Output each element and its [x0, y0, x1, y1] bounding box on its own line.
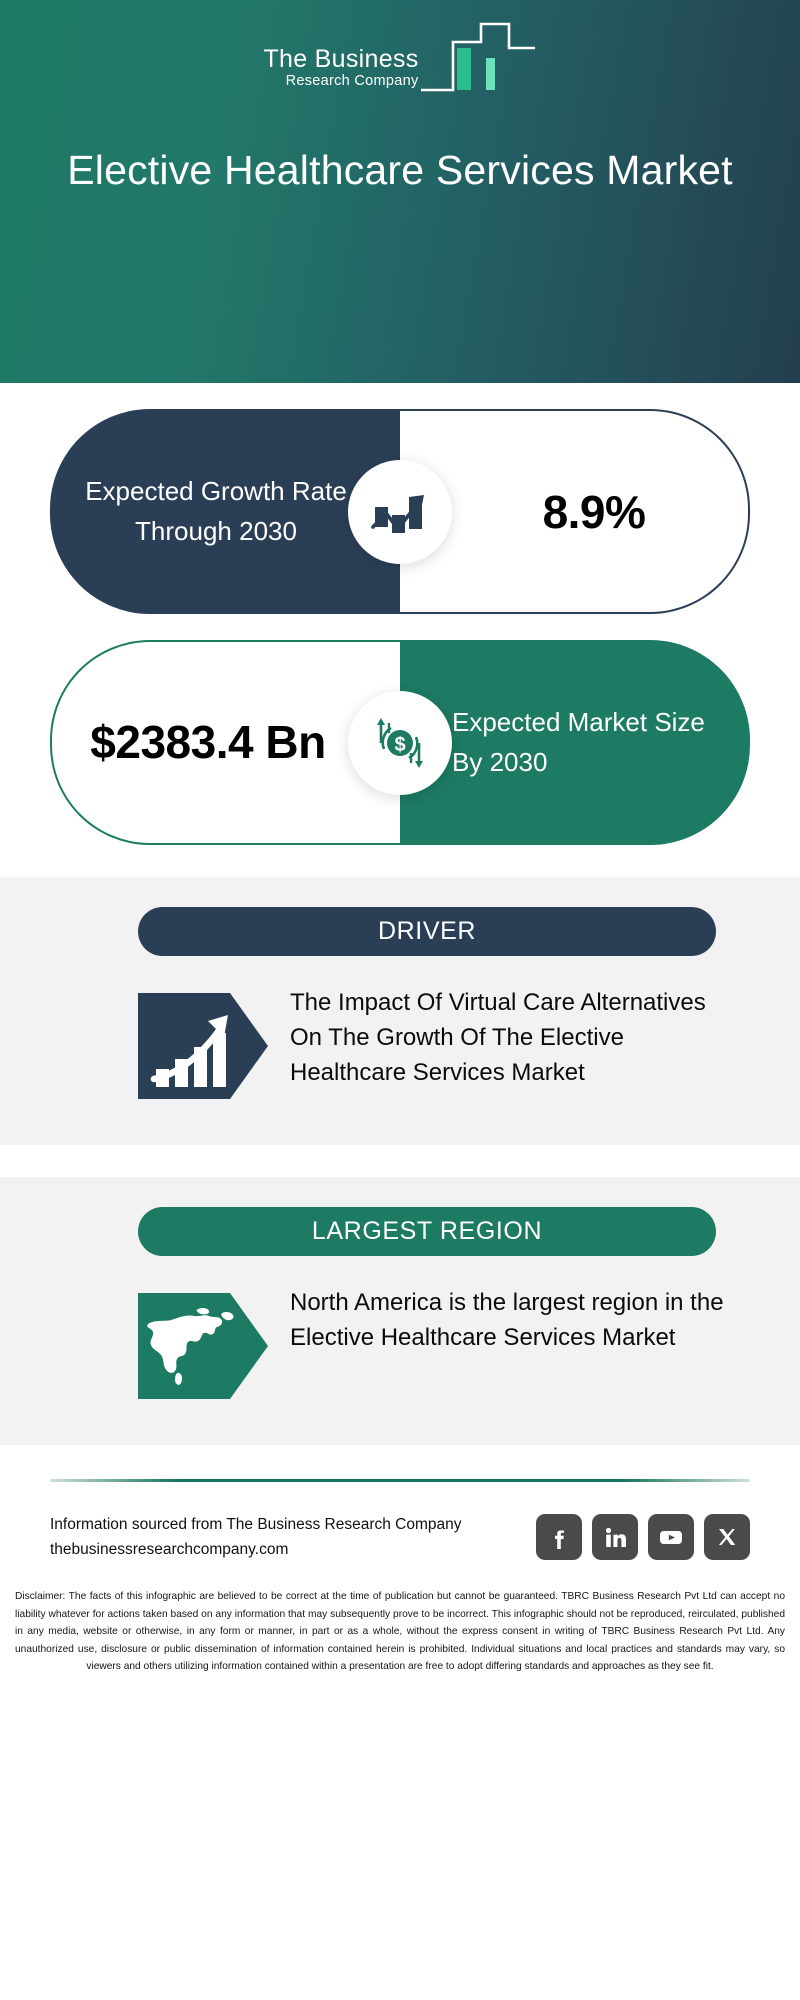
spacer — [0, 845, 800, 877]
spacer — [0, 1145, 800, 1177]
bar-growth-arrow-icon — [138, 981, 268, 1111]
facebook-icon[interactable] — [536, 1514, 582, 1560]
stat-label-panel: Expected Market Size By 2030 — [400, 640, 750, 845]
disclaimer-text: Disclaimer: The facts of this infographi… — [15, 1588, 785, 1676]
driver-pill-label: DRIVER — [378, 917, 476, 946]
logo-bar-chart-icon — [419, 18, 537, 98]
largest-region-panel: LARGEST REGION North America is the larg… — [0, 1177, 800, 1445]
stat-card-growth-rate: Expected Growth Rate Through 2030 8.9% — [50, 409, 750, 614]
x-twitter-icon[interactable] — [704, 1514, 750, 1560]
social-links — [536, 1514, 750, 1560]
infographic-page: The Business Research Company Elective H… — [0, 0, 800, 2000]
logo-line-1: The Business — [263, 46, 418, 73]
page-title: Elective Healthcare Services Market — [48, 145, 752, 196]
svg-text:$: $ — [394, 734, 405, 756]
driver-pill: DRIVER — [138, 907, 716, 956]
largest-region-pill: LARGEST REGION — [138, 1207, 716, 1256]
dollar-cycle-icon: $ — [348, 691, 452, 795]
linkedin-icon[interactable] — [592, 1514, 638, 1560]
stat-label: Expected Market Size By 2030 — [400, 703, 750, 782]
source-line-2[interactable]: thebusinessresearchcompany.com — [50, 1537, 462, 1562]
youtube-icon[interactable] — [648, 1514, 694, 1560]
header-banner: The Business Research Company Elective H… — [0, 0, 800, 383]
source-line-1: Information sourced from The Business Re… — [50, 1512, 462, 1537]
largest-region-text: North America is the largest region in t… — [290, 1281, 750, 1355]
growth-chart-arrow-icon — [348, 460, 452, 564]
north-america-map-icon — [138, 1281, 268, 1411]
footer: Information sourced from The Business Re… — [0, 1479, 800, 1676]
logo-text: The Business Research Company — [263, 46, 418, 98]
logo-line-2: Research Company — [286, 73, 419, 90]
driver-text: The Impact Of Virtual Care Alternatives … — [290, 981, 750, 1090]
driver-panel: DRIVER The Impact Of Virtual Care Altern… — [0, 877, 800, 1145]
stat-value: 8.9% — [503, 485, 646, 539]
stat-value: $2383.4 Bn — [90, 714, 361, 770]
stat-value-panel: 8.9% — [400, 409, 750, 614]
largest-region-pill-label: LARGEST REGION — [312, 1217, 542, 1246]
source-info: Information sourced from The Business Re… — [50, 1512, 462, 1562]
stat-card-market-size: $2383.4 Bn Expected Market Size By 2030 … — [50, 640, 750, 845]
footer-divider — [50, 1479, 750, 1482]
brand-logo: The Business Research Company — [0, 18, 800, 98]
